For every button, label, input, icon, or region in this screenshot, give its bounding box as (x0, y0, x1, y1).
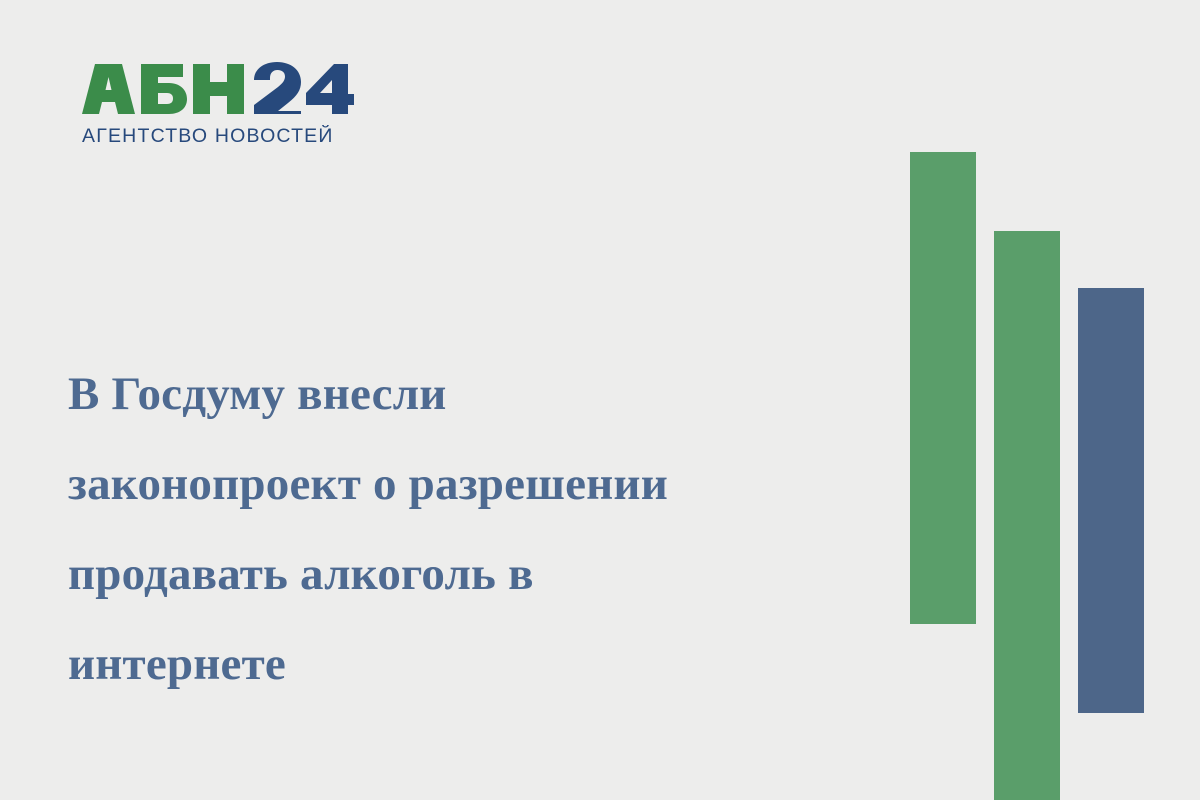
decorative-bar-blue (1078, 288, 1144, 713)
headline-line-3: продавать алкоголь в (68, 529, 868, 619)
logo-tagline-text: АГЕНТСТВО НОВОСТЕЙ (82, 125, 334, 147)
headline-line-1: В Госдуму внесли (68, 349, 868, 439)
logo-tagline: АГЕНТСТВО НОВОСТЕЙ (82, 125, 354, 147)
logo[interactable]: АГЕНТСТВО НОВОСТЕЙ (82, 58, 382, 147)
headline-line-2: законопроект о разрешении (68, 439, 868, 529)
headline: В Госдуму внесли законопроект о разрешен… (68, 349, 868, 709)
logo-wordmark-icon (82, 58, 354, 120)
decorative-bar-green-tall (910, 152, 976, 624)
news-card: АГЕНТСТВО НОВОСТЕЙ В Госдуму внесли зако… (0, 0, 1200, 800)
decorative-bar-green-long (994, 231, 1060, 800)
headline-line-4: интернете (68, 619, 868, 709)
